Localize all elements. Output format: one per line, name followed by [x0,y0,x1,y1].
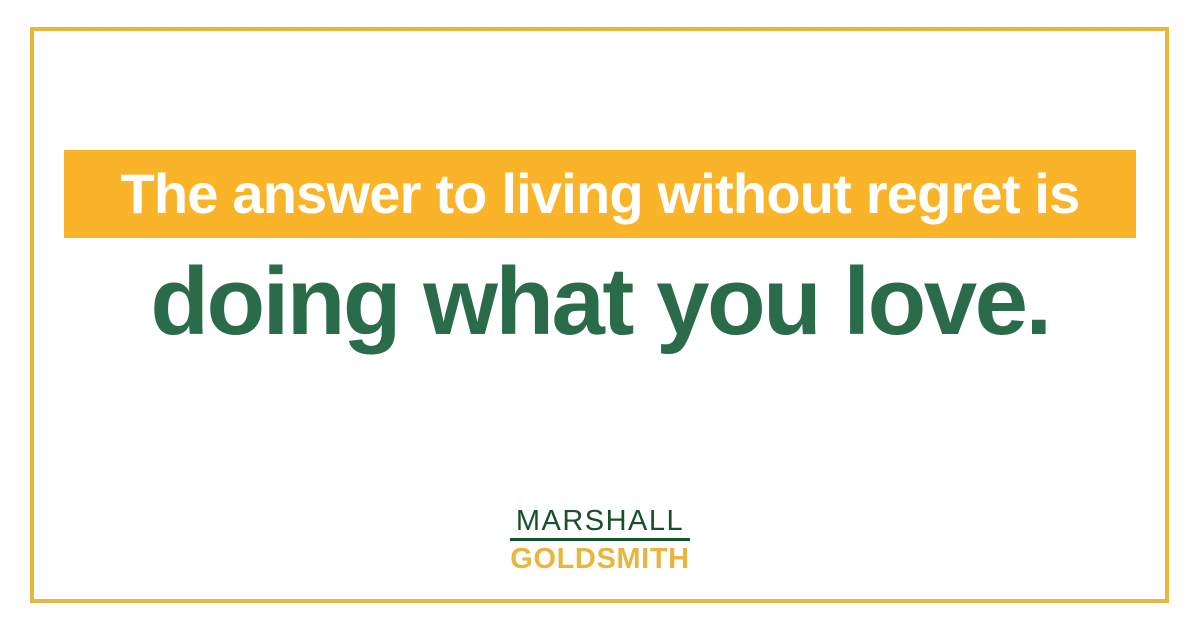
brand-logo-top-word: MARSHALL [510,505,689,537]
quote-line-1-container: The answer to living without regret is [0,150,1200,238]
quote-line-2-emphasis: doing what you love. [150,250,1049,354]
brand-logo-divider-rule [510,538,689,541]
quote-card: The answer to living without regret is d… [0,0,1200,630]
brand-logo-lockup: MARSHALL GOLDSMITH [510,505,689,576]
quote-line-2-container: doing what you love. [0,250,1200,354]
quote-block: The answer to living without regret is d… [0,150,1200,354]
brand-logo: MARSHALL GOLDSMITH [0,505,1200,576]
brand-logo-bottom-word: GOLDSMITH [510,543,689,576]
quote-line-1-highlight: The answer to living without regret is [64,150,1135,238]
